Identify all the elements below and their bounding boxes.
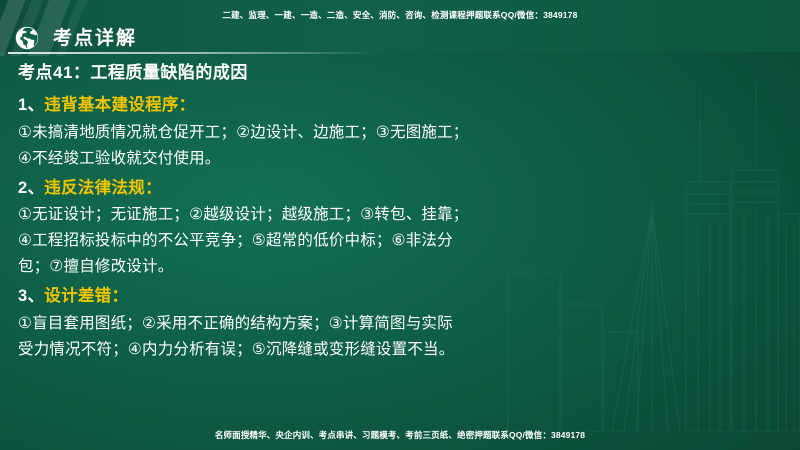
section-2-heading: 2、违反法律法规：: [18, 178, 782, 199]
section-2: 2、违反法律法规： ①无证设计；无证施工；②越级设计；越级施工；③转包、挂靠； …: [18, 178, 782, 278]
section-3: 3、设计差错： ①盲目套用图纸；②采用不正确的结构方案；③计算简图与实际 受力情…: [18, 286, 782, 360]
globe-icon: [14, 25, 40, 51]
section-2-number: 2、: [18, 179, 44, 197]
section-2-line-1: ①无证设计；无证施工；②越级设计；越级施工；③转包、挂靠；: [18, 204, 782, 226]
section-3-label: 设计差错：: [44, 287, 128, 305]
section-3-heading: 3、设计差错：: [18, 286, 782, 307]
section-1-line-1: ①未搞清地质情况就仓促开工；②边设计、边施工；③无图施工；: [18, 122, 782, 144]
top-promo-banner: 二建、监理、一建、一造、二造、安全、消防、咨询、检测课程押题联系QQ/微信：38…: [0, 9, 800, 21]
section-2-line-3: 包；⑦擅自修改设计。: [18, 256, 782, 278]
slide-content: 考点41：工程质量缺陷的成因 1、违背基本建设程序： ①未搞清地质情况就仓促开工…: [18, 62, 782, 365]
brand-lockup: 考点详解: [14, 25, 137, 51]
section-3-line-1: ①盲目套用图纸；②采用不正确的结构方案；③计算简图与实际: [18, 313, 782, 335]
section-1-heading: 1、违背基本建设程序：: [18, 95, 782, 116]
footer-promo-text: 名师面授精华、央企内训、考点串讲、习题模考、考前三页纸、绝密押题联系QQ/微信：…: [0, 429, 800, 441]
section-3-line-2: 受力情况不符；④内力分析有误；⑤沉降缝或变形缝设置不当。: [18, 339, 782, 361]
header-underline: [8, 52, 378, 54]
section-1-label: 违背基本建设程序：: [44, 96, 195, 114]
section-3-number: 3、: [18, 287, 44, 305]
section-2-label: 违反法律法规：: [44, 179, 162, 197]
slide-root: 二建、监理、一建、一造、二造、安全、消防、咨询、检测课程押题联系QQ/微信：38…: [0, 0, 800, 450]
header-title: 考点详解: [53, 29, 137, 48]
section-1-line-2: ④不经竣工验收就交付使用。: [18, 148, 782, 170]
page-title: 考点41：工程质量缺陷的成因: [18, 62, 782, 83]
section-1: 1、违背基本建设程序： ①未搞清地质情况就仓促开工；②边设计、边施工；③无图施工…: [18, 95, 782, 169]
section-2-line-2: ④工程招标投标中的不公平竞争；⑤超常的低价中标；⑥非法分: [18, 230, 782, 252]
section-1-number: 1、: [18, 96, 44, 114]
